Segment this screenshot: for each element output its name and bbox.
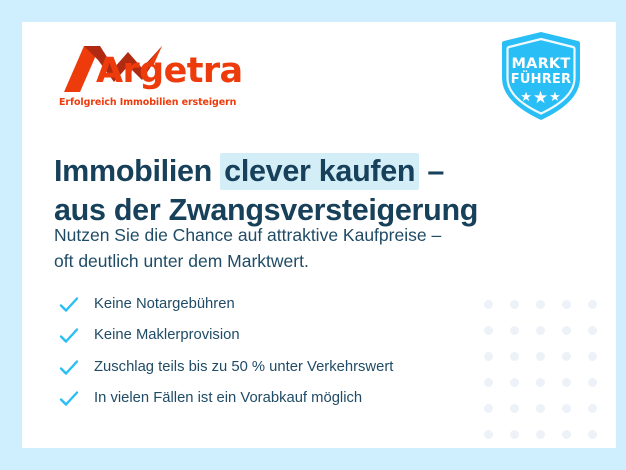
list-item-label: Zuschlag teils bis zu 50 % unter Verkehr…: [94, 359, 393, 375]
decoration-dot: [588, 430, 597, 439]
list-item-label: Keine Notargebühren: [94, 296, 235, 312]
decoration-dot: [536, 300, 545, 309]
decoration-dot: [536, 430, 545, 439]
decoration-dot: [562, 404, 571, 413]
list-item: In vielen Fällen ist ein Vorabkauf mögli…: [56, 388, 526, 409]
decoration-dot: [562, 378, 571, 387]
decoration-dot: [562, 300, 571, 309]
decoration-dot: [536, 326, 545, 335]
list-item: Keine Maklerprovision: [56, 325, 526, 346]
market-leader-badge: MARKT FÜHRER ★★★: [498, 30, 584, 126]
badge-line-1: MARKT: [498, 56, 584, 72]
badge-stars: ★★★: [498, 89, 584, 106]
check-icon: [59, 327, 79, 345]
star-icon-small: ★: [520, 89, 533, 104]
decoration-dot: [562, 352, 571, 361]
decoration-dot: [588, 378, 597, 387]
subheading-line-2: oft deutlich unter dem Marktwert.: [54, 248, 564, 274]
badge-line-2: FÜHRER: [498, 72, 584, 87]
list-item-label: In vielen Fällen ist ein Vorabkauf mögli…: [94, 390, 362, 406]
decoration-dot: [588, 326, 597, 335]
star-icon-small-2: ★: [549, 89, 562, 104]
check-icon: [59, 296, 79, 314]
decoration-dot: [562, 430, 571, 439]
decoration-dot: [484, 430, 493, 439]
list-item: Keine Notargebühren: [56, 294, 526, 315]
logo-wordmark: Argetra: [96, 54, 243, 89]
decoration-dot: [510, 430, 519, 439]
decoration-dot: [588, 352, 597, 361]
check-icon: [59, 390, 79, 408]
decoration-dot: [588, 300, 597, 309]
headline-part-before: Immobilien: [54, 154, 220, 188]
decoration-dot: [536, 352, 545, 361]
promo-banner: Argetra Erfolgreich Immobilien ersteiger…: [0, 0, 626, 470]
logo-tagline: Erfolgreich Immobilien ersteigern: [59, 97, 236, 108]
star-icon-large: ★: [533, 88, 549, 107]
headline-highlight: clever kaufen: [220, 153, 419, 190]
headline-part-after: –: [419, 154, 444, 188]
decoration-dot: [588, 404, 597, 413]
decoration-dot: [536, 404, 545, 413]
benefits-list: Keine Notargebühren Keine Maklerprovisio…: [56, 294, 526, 420]
argetra-logo[interactable]: Argetra Erfolgreich Immobilien ersteiger…: [58, 40, 238, 116]
decoration-dot: [536, 378, 545, 387]
check-icon: [59, 359, 79, 377]
page-title: Immobilien clever kaufen – aus der Zwang…: [54, 152, 554, 229]
banner-card: Argetra Erfolgreich Immobilien ersteiger…: [22, 22, 616, 448]
list-item-label: Keine Maklerprovision: [94, 327, 240, 343]
subheading: Nutzen Sie die Chance auf attraktive Kau…: [54, 222, 564, 275]
list-item: Zuschlag teils bis zu 50 % unter Verkehr…: [56, 357, 526, 378]
subheading-line-1: Nutzen Sie die Chance auf attraktive Kau…: [54, 222, 564, 248]
decoration-dot: [562, 326, 571, 335]
